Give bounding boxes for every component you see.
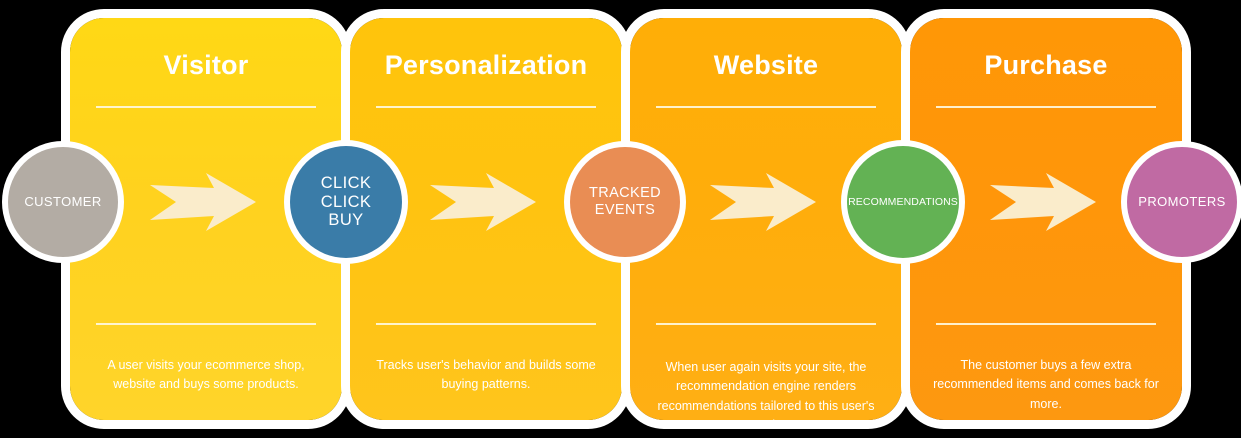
step-description-website: When user again visits your site, the re… bbox=[646, 358, 886, 436]
node-label-click-click-buy: CLICK CLICK BUY bbox=[321, 174, 372, 231]
node-click-click-buy: CLICK CLICK BUY bbox=[290, 146, 402, 258]
flow-diagram: Visitor A user visits your ecommerce sho… bbox=[0, 0, 1241, 438]
divider-bottom bbox=[96, 323, 316, 325]
node-label-tracked-events: TRACKED EVENTS bbox=[589, 185, 661, 218]
divider-bottom bbox=[376, 323, 596, 325]
node-tracked-events: TRACKED EVENTS bbox=[570, 147, 680, 257]
divider-bottom bbox=[656, 323, 876, 325]
arrow-right-icon bbox=[428, 173, 538, 231]
node-label-promoters: PROMOTERS bbox=[1138, 195, 1225, 210]
node-promoters: PROMOTERS bbox=[1127, 147, 1237, 257]
step-title-visitor: Visitor bbox=[70, 52, 342, 79]
divider-top bbox=[96, 106, 316, 108]
step-title-purchase: Purchase bbox=[910, 52, 1182, 79]
divider-top bbox=[656, 106, 876, 108]
node-recommendations: RECOMMENDATIONS bbox=[847, 146, 959, 258]
divider-bottom bbox=[936, 323, 1156, 325]
node-customer: CUSTOMER bbox=[8, 147, 118, 257]
step-title-website: Website bbox=[630, 52, 902, 79]
step-description-visitor: A user visits your ecommerce shop, websi… bbox=[86, 356, 326, 395]
node-label-recommendations: RECOMMENDATIONS bbox=[848, 196, 958, 208]
divider-top bbox=[376, 106, 596, 108]
node-label-customer: CUSTOMER bbox=[24, 195, 101, 210]
divider-top bbox=[936, 106, 1156, 108]
step-title-personalization: Personalization bbox=[350, 52, 622, 79]
step-description-purchase: The customer buys a few extra recommende… bbox=[926, 356, 1166, 414]
arrow-right-icon bbox=[708, 173, 818, 231]
arrow-right-icon bbox=[148, 173, 258, 231]
arrow-right-icon bbox=[988, 173, 1098, 231]
step-description-personalization: Tracks user's behavior and builds some b… bbox=[366, 356, 606, 395]
